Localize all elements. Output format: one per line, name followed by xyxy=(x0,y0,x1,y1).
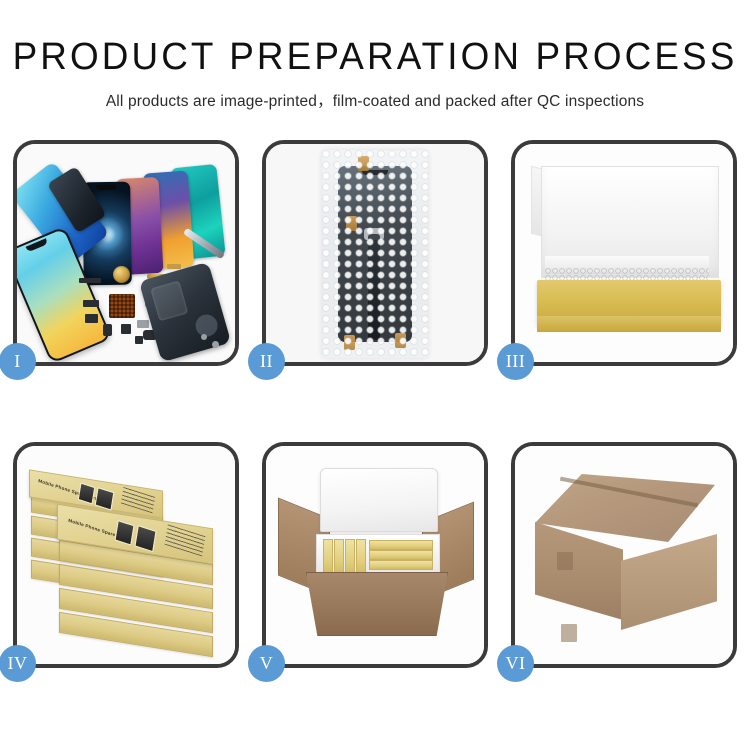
kraft-box-front xyxy=(537,316,721,332)
step-badge-5: V xyxy=(248,645,285,682)
yellow-box xyxy=(369,540,433,550)
panel-4-image: Mobile Phone Spare Parts Mobile Phone Sp… xyxy=(17,446,235,664)
bubble-texture xyxy=(322,150,428,358)
process-step-panel-1: I xyxy=(13,140,239,366)
coil-part xyxy=(113,266,130,283)
panel-5-image xyxy=(266,446,484,664)
spare-part xyxy=(103,324,112,336)
panel-6-image xyxy=(515,446,733,664)
carton-tape xyxy=(561,624,577,642)
yellow-box xyxy=(334,539,344,575)
process-step-panel-3: III xyxy=(511,140,737,366)
spare-part xyxy=(137,320,149,328)
yellow-box xyxy=(345,539,355,575)
panel-2-image xyxy=(266,144,484,362)
carton-tape xyxy=(557,552,573,570)
spare-part xyxy=(167,264,181,269)
spare-part xyxy=(79,278,101,283)
process-step-grid: I II xyxy=(13,140,737,668)
box-thumbnail xyxy=(78,482,96,504)
box-thumbnail xyxy=(114,520,134,546)
step-badge-4: IV xyxy=(0,645,36,682)
spare-part xyxy=(85,314,98,323)
spare-part xyxy=(135,336,143,344)
spare-part xyxy=(83,300,99,307)
yellow-box xyxy=(356,539,366,575)
step-badge-2: II xyxy=(248,343,285,380)
box-thumbnail xyxy=(134,525,156,552)
box-spec-lines xyxy=(121,487,155,513)
step-badge-6: VI xyxy=(497,645,534,682)
process-step-panel-5: V xyxy=(262,442,488,668)
step-badge-1: I xyxy=(0,343,36,380)
screw-part xyxy=(212,341,219,348)
box-spec-lines xyxy=(165,524,206,556)
screw-part xyxy=(201,334,207,340)
foam-layer xyxy=(545,256,709,268)
header: PRODUCT PREPARATION PROCESS All products… xyxy=(0,0,750,111)
connector-grid-chip xyxy=(109,294,135,318)
panel-1-image xyxy=(17,144,235,362)
box-thumbnail xyxy=(95,487,115,511)
page-subtitle: All products are image-printed，film-coat… xyxy=(0,89,750,111)
spare-part xyxy=(121,324,131,334)
page-title: PRODUCT PREPARATION PROCESS xyxy=(11,38,739,76)
step-badge-3: III xyxy=(497,343,534,380)
panel-3-image xyxy=(515,144,733,362)
yellow-box xyxy=(369,550,433,560)
process-step-panel-4: Mobile Phone Spare Parts Mobile Phone Sp… xyxy=(13,442,239,668)
bubble-wrap-bag xyxy=(322,150,428,358)
process-step-panel-2: II xyxy=(262,140,488,366)
yellow-box xyxy=(369,560,433,570)
product-preparation-infographic: PRODUCT PREPARATION PROCESS All products… xyxy=(0,0,750,750)
styrofoam-lid xyxy=(320,468,438,532)
yellow-box xyxy=(323,539,333,575)
carton-body xyxy=(306,572,448,636)
process-step-panel-6: VI xyxy=(511,442,737,668)
